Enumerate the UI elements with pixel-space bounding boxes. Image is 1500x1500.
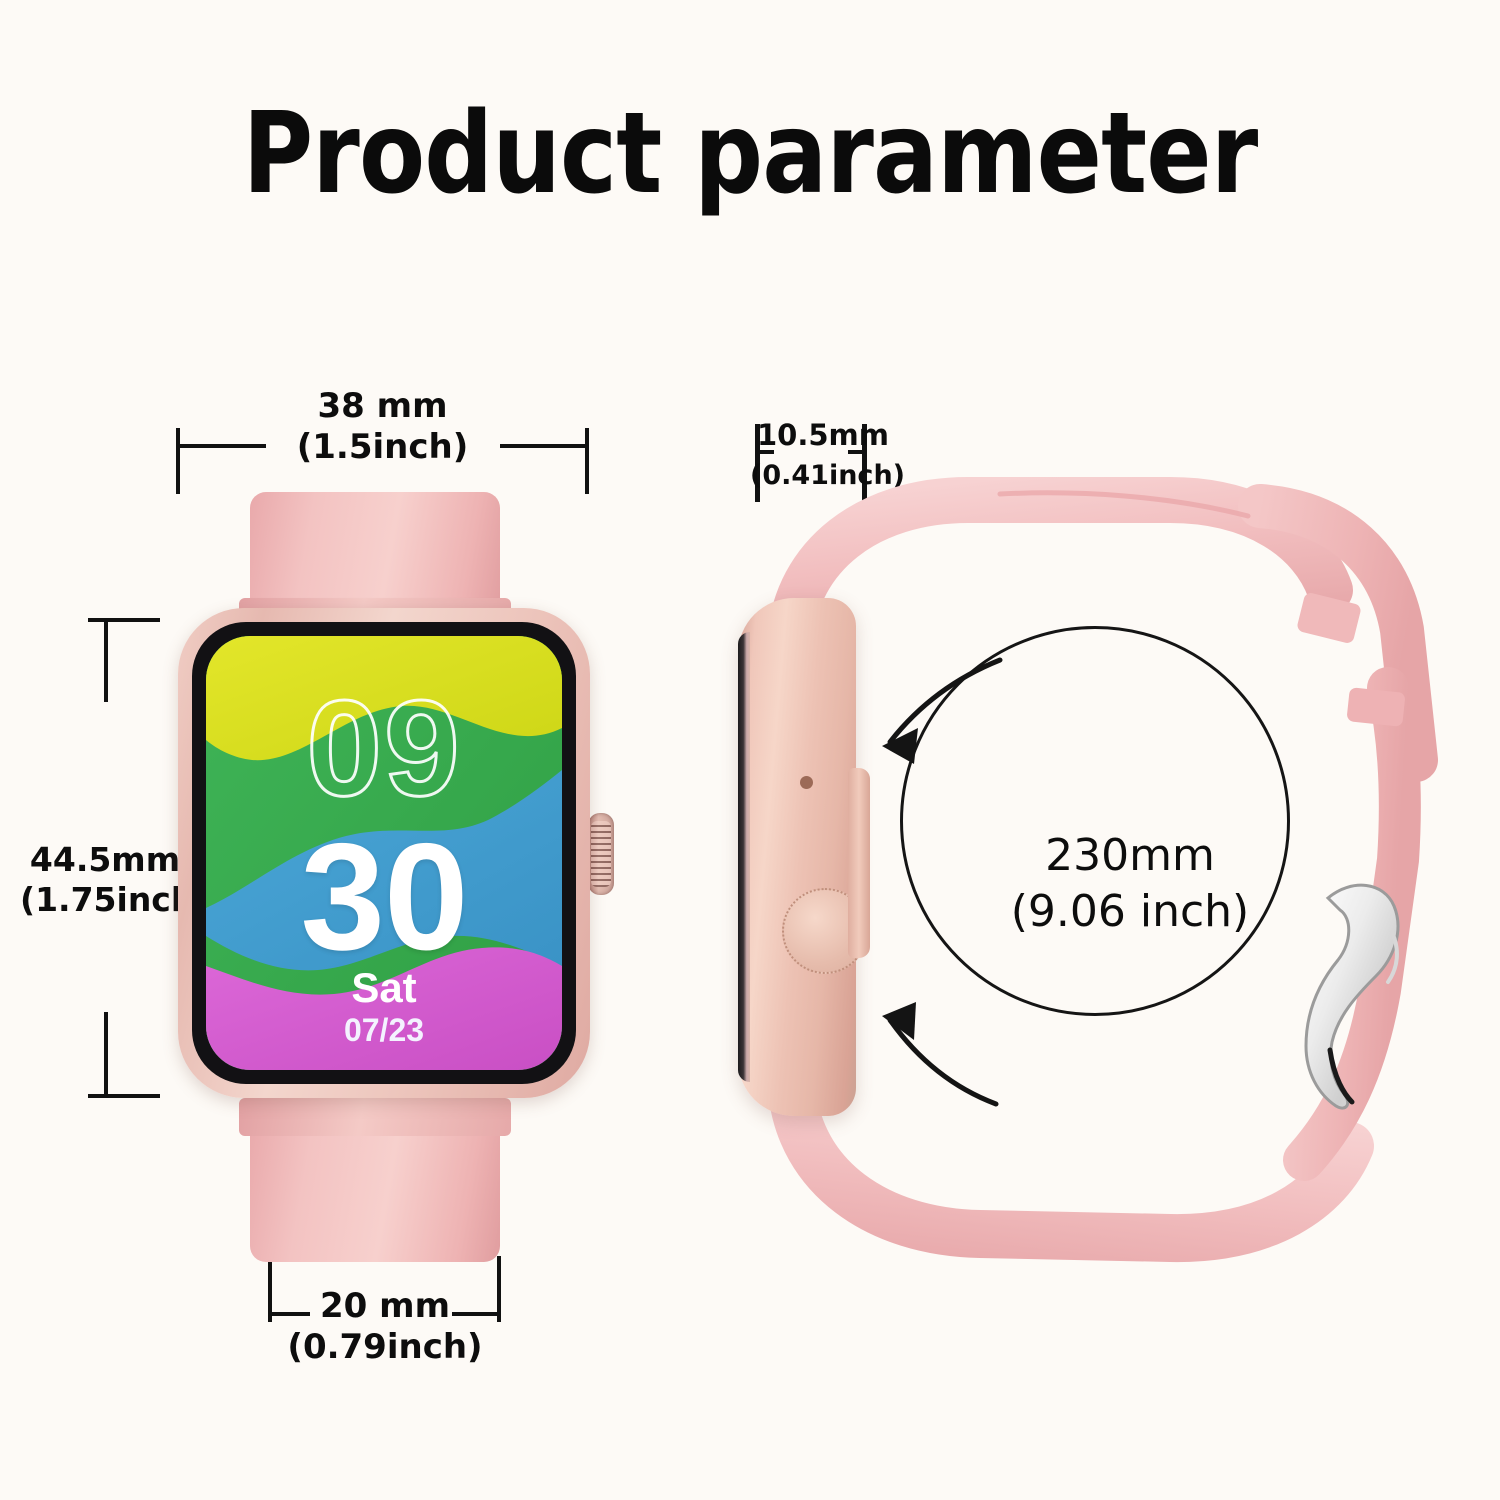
- height-dimension-line-bottom: [104, 1012, 108, 1094]
- watch-case-front: 09 30 Sat 07/23: [178, 608, 590, 1098]
- band-width-dimension-label: 20 mm (0.79inch): [260, 1286, 510, 1369]
- watch-bezel: 09 30 Sat 07/23: [192, 622, 576, 1084]
- band-width-dimension-inch: (0.79inch): [260, 1327, 510, 1368]
- watch-face-hour: 09: [206, 670, 562, 826]
- watch-face-minute: 30: [206, 810, 562, 985]
- height-dimension-bottom-cap: [88, 1094, 160, 1098]
- height-dimension-inch: (1.75inch): [20, 880, 190, 920]
- watch-face-weekday: Sat: [206, 964, 562, 1012]
- height-dimension-mm: 44.5mm: [20, 840, 190, 880]
- band-width-dimension-mm: 20 mm: [260, 1286, 510, 1327]
- width-dimension-mm: 38 mm: [176, 386, 589, 427]
- watch-crown-button[interactable]: [588, 813, 614, 895]
- watch-face-date: 07/23: [206, 1012, 562, 1049]
- height-dimension-line-top: [104, 622, 108, 702]
- band-clasp-buckle: [700, 0, 1500, 1500]
- height-dimension-label: 44.5mm (1.75inch): [20, 840, 190, 921]
- crown-ridges: [591, 821, 611, 887]
- front-view-group: 38 mm (1.5inch) 44.5mm (1.75inch) 20 mm …: [0, 0, 700, 1500]
- width-dimension-inch: (1.5inch): [176, 427, 589, 468]
- watch-screen[interactable]: 09 30 Sat 07/23: [206, 636, 562, 1070]
- strap-lug-bottom: [239, 1098, 511, 1136]
- width-dimension-label: 38 mm (1.5inch): [176, 386, 589, 469]
- height-dimension-top-cap: [88, 618, 160, 622]
